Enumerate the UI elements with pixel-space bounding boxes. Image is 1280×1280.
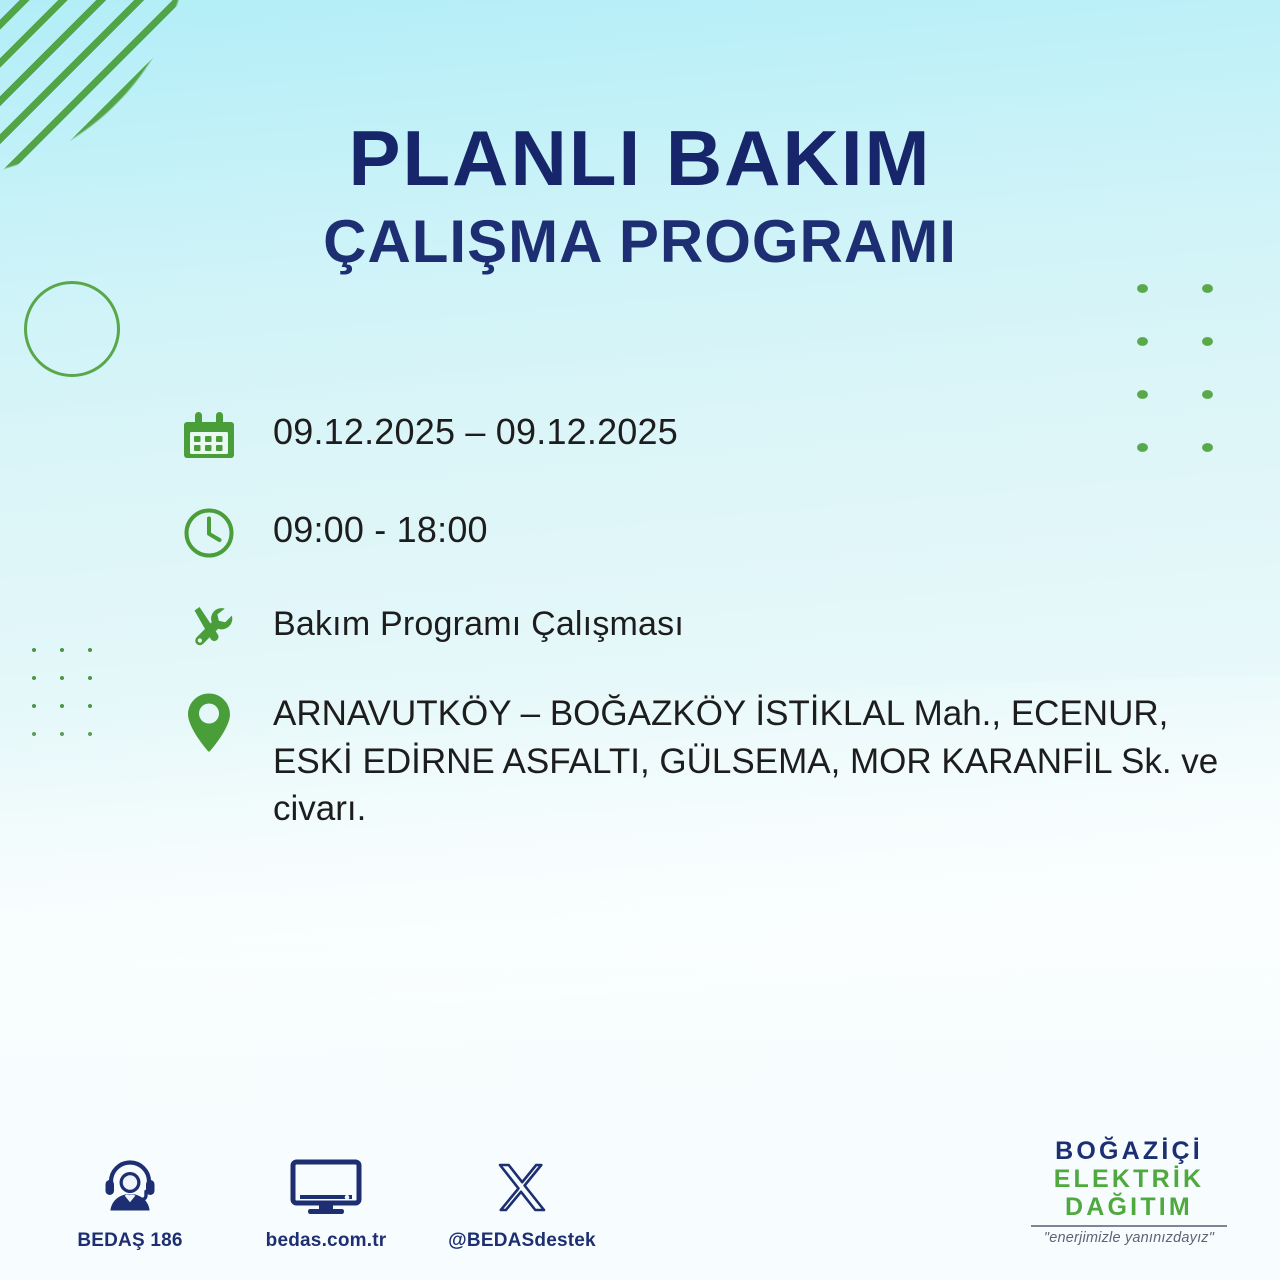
time-range-text: 09:00 - 18:00 (240, 502, 1248, 550)
page-footer: BEDAŞ 186 bedas.com.tr (0, 1108, 1280, 1258)
tools-icon (178, 596, 240, 658)
x-twitter-icon (448, 1155, 596, 1217)
contact-phone[interactable]: BEDAŞ 186 (56, 1155, 204, 1252)
support-agent-icon (56, 1155, 204, 1217)
poster-canvas: PLANLI BAKIM ÇALIŞMA PROGRAMI (0, 0, 1280, 1280)
brand-line-3: DAĞITIM (1014, 1193, 1244, 1221)
contact-social-label: @BEDASdestek (448, 1230, 596, 1252)
info-row-work: Bakım Programı Çalışması (178, 596, 1248, 658)
contact-list: BEDAŞ 186 bedas.com.tr (56, 1155, 596, 1252)
map-pin-icon (178, 688, 240, 750)
brand-logo: BOĞAZİÇİ ELEKTRİK DAĞITIM "enerjimizle y… (1014, 1137, 1244, 1246)
brand-tagline: "enerjimizle yanınızdayız" (1014, 1230, 1244, 1246)
brand-line-2: ELEKTRİK (1014, 1165, 1244, 1193)
dot-grid-left-decoration (18, 634, 110, 754)
location-text: ARNAVUTKÖY – BOĞAZKÖY İSTİKLAL Mah., ECE… (240, 688, 1248, 833)
contact-website-label: bedas.com.tr (252, 1230, 400, 1252)
contact-website[interactable]: bedas.com.tr (252, 1155, 400, 1252)
monitor-icon (252, 1155, 400, 1217)
calendar-icon (178, 404, 240, 466)
info-row-time: 09:00 - 18:00 (178, 502, 1248, 564)
brand-line-1: BOĞAZİÇİ (1014, 1137, 1244, 1165)
page-title: PLANLI BAKIM (0, 120, 1280, 196)
page-header: PLANLI BAKIM ÇALIŞMA PROGRAMI (0, 120, 1280, 272)
page-subtitle: ÇALIŞMA PROGRAMI (0, 212, 1280, 272)
contact-social[interactable]: @BEDASdestek (448, 1155, 596, 1252)
info-block: 09.12.2025 – 09.12.2025 09:00 - 18:00 (178, 404, 1248, 833)
contact-phone-label: BEDAŞ 186 (56, 1230, 204, 1252)
clock-icon (178, 502, 240, 564)
info-row-location: ARNAVUTKÖY – BOĞAZKÖY İSTİKLAL Mah., ECE… (178, 688, 1248, 833)
info-row-date: 09.12.2025 – 09.12.2025 (178, 404, 1248, 466)
date-range-text: 09.12.2025 – 09.12.2025 (240, 404, 1248, 452)
work-type-text: Bakım Programı Çalışması (240, 596, 1248, 643)
circle-outline-decoration (24, 281, 120, 377)
brand-divider (1031, 1225, 1227, 1227)
